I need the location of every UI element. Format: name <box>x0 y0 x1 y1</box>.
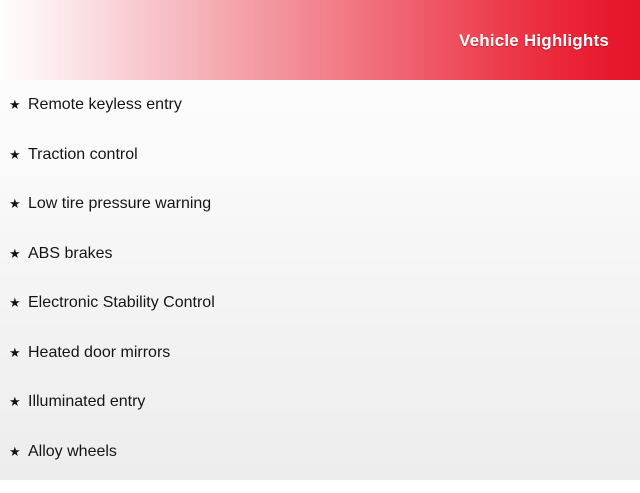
list-item: ★ Alloy wheels <box>0 444 640 493</box>
vehicle-highlights-page: Vehicle Highlights ★ Remote keyless entr… <box>0 0 640 480</box>
list-item-label: Heated door mirrors <box>28 345 170 361</box>
list-item-label: Remote keyless entry <box>28 97 182 113</box>
list-item-label: Low tire pressure warning <box>28 196 211 212</box>
list-item-label: ABS brakes <box>28 246 112 262</box>
list-item: ★ Heated door mirrors <box>0 345 640 395</box>
star-icon: ★ <box>9 98 28 111</box>
list-item-label: Illuminated entry <box>28 394 145 410</box>
star-icon: ★ <box>9 247 28 260</box>
star-icon: ★ <box>9 445 28 458</box>
list-item: ★ Remote keyless entry <box>0 97 640 147</box>
list-item-label: Electronic Stability Control <box>28 295 215 311</box>
list-item-label: Traction control <box>28 147 138 163</box>
list-item: ★ ABS brakes <box>0 246 640 296</box>
star-icon: ★ <box>9 395 28 408</box>
list-item: ★ Low tire pressure warning <box>0 196 640 246</box>
list-item: ★ Traction control <box>0 147 640 197</box>
page-title: Vehicle Highlights <box>459 32 609 49</box>
star-icon: ★ <box>9 296 28 309</box>
star-icon: ★ <box>9 148 28 161</box>
star-icon: ★ <box>9 346 28 359</box>
page-header: Vehicle Highlights <box>0 0 640 80</box>
vehicle-highlights-list: ★ Remote keyless entry ★ Traction contro… <box>0 80 640 493</box>
star-icon: ★ <box>9 197 28 210</box>
page-content: ★ Remote keyless entry ★ Traction contro… <box>0 80 640 493</box>
list-item: ★ Electronic Stability Control <box>0 295 640 345</box>
list-item: ★ Illuminated entry <box>0 394 640 444</box>
list-item-label: Alloy wheels <box>28 444 117 460</box>
